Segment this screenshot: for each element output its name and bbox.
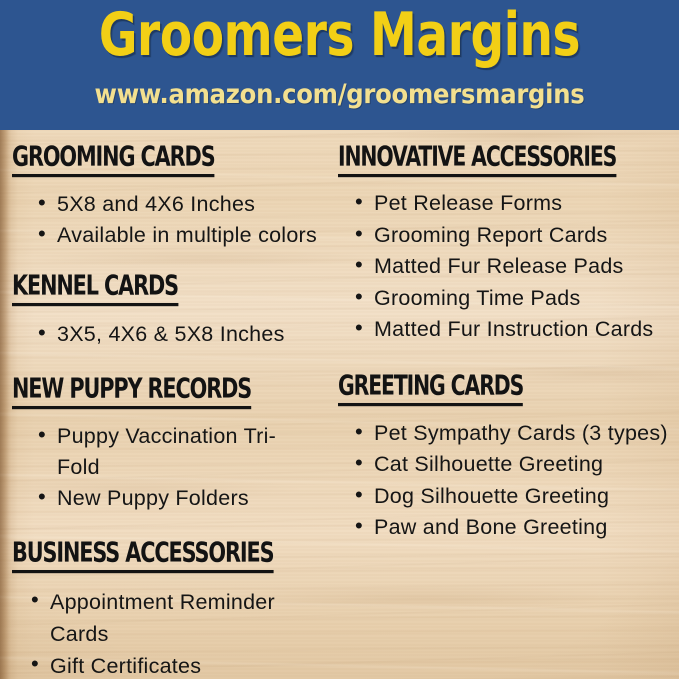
feature-list: Pet Release Forms Grooming Report Cards … <box>338 176 679 346</box>
section-heading-wrap: Greeting Cards <box>338 346 679 405</box>
list-item: 3X5, 4X6 & 5X8 Inches <box>33 319 338 350</box>
section-heading: Innovative Accessories <box>338 141 616 177</box>
section-heading-wrap: Business Accessories <box>12 514 338 572</box>
header-banner: Groomers Margins www.amazon.com/groomers… <box>0 0 679 130</box>
section-new-puppy-records: New Puppy Records Puppy Vaccination Tri-… <box>12 350 338 514</box>
section-heading-wrap: New Puppy Records <box>12 350 338 408</box>
list-item: Matted Fur Instruction Cards <box>350 314 679 346</box>
section-innovative-accessories: Innovative Accessories Pet Release Forms… <box>338 130 679 346</box>
section-heading: New Puppy Records <box>12 372 251 408</box>
feature-list: Puppy Vaccination Tri-Fold New Puppy Fol… <box>12 408 338 514</box>
list-item: 5X8 and 4X6 Inches <box>33 189 338 220</box>
feature-list: Appointment Reminder Cards Gift Certific… <box>12 572 338 679</box>
section-kennel-cards: Kennel Cards 3X5, 4X6 & 5X8 Inches <box>12 250 338 350</box>
section-heading-wrap: Grooming Cards <box>12 130 338 176</box>
section-heading-wrap: Innovative Accessories <box>338 130 679 176</box>
feature-list: 3X5, 4X6 & 5X8 Inches <box>12 305 338 350</box>
list-item: Dog Silhouette Greeting <box>350 481 679 513</box>
section-grooming-cards: Grooming Cards 5X8 and 4X6 Inches Availa… <box>12 130 338 250</box>
list-item: New Puppy Folders <box>33 483 338 514</box>
section-heading: Greeting Cards <box>338 369 523 405</box>
list-item: Gift Certificates <box>26 650 338 679</box>
section-heading-wrap: Kennel Cards <box>12 250 338 305</box>
feature-columns: Grooming Cards 5X8 and 4X6 Inches Availa… <box>0 130 679 679</box>
feature-list: 5X8 and 4X6 Inches Available in multiple… <box>12 176 338 250</box>
list-item: Appointment Reminder Cards <box>26 586 310 650</box>
list-item: Puppy Vaccination Tri-Fold <box>33 421 309 483</box>
list-item: Paw and Bone Greeting <box>350 512 679 544</box>
section-heading: Kennel Cards <box>12 270 178 306</box>
list-item: Cat Silhouette Greeting <box>350 449 679 481</box>
brand-title: Groomers Margins <box>54 0 624 74</box>
left-column: Grooming Cards 5X8 and 4X6 Inches Availa… <box>12 130 338 679</box>
list-item: Pet Release Forms <box>350 188 679 220</box>
product-feature-poster: Groomers Margins www.amazon.com/groomers… <box>0 0 679 679</box>
list-item: Grooming Time Pads <box>350 283 679 315</box>
store-url: www.amazon.com/groomersmargins <box>34 79 645 111</box>
list-item: Matted Fur Release Pads <box>350 251 679 283</box>
list-item: Grooming Report Cards <box>350 220 679 252</box>
list-item: Pet Sympathy Cards (3 types) <box>350 418 679 450</box>
section-heading: Business Accessories <box>12 536 273 572</box>
right-column: Innovative Accessories Pet Release Forms… <box>338 130 679 544</box>
list-item: Available in multiple colors <box>33 220 338 251</box>
section-business-accessories: Business Accessories Appointment Reminde… <box>12 514 338 679</box>
section-heading: Grooming Cards <box>12 141 215 177</box>
section-greeting-cards: Greeting Cards Pet Sympathy Cards (3 typ… <box>338 346 679 544</box>
feature-list: Pet Sympathy Cards (3 types) Cat Silhoue… <box>338 405 679 544</box>
